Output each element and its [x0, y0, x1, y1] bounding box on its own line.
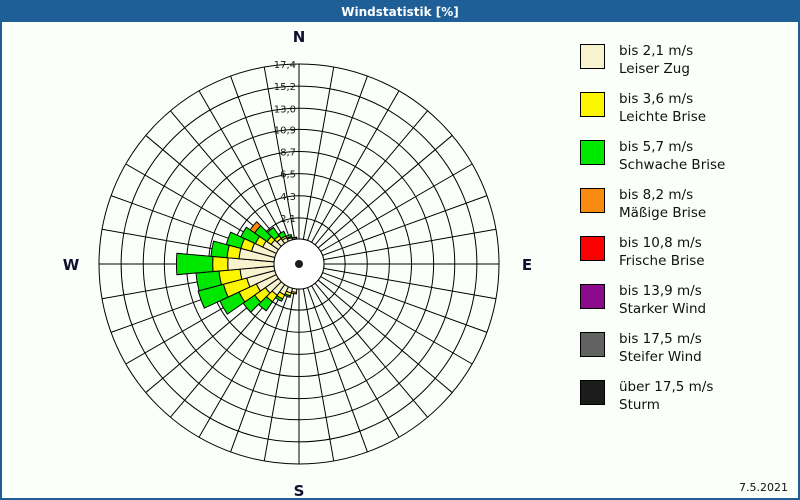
legend-label: über 17,5 m/sSturm [619, 378, 713, 415]
legend-speed-range: bis 3,6 m/s [619, 90, 706, 108]
radial-tick-label: 13,0 [274, 104, 296, 115]
window-title-bar: Windstatistik [%] [2, 2, 798, 22]
legend-item: über 17,5 m/sSturm [580, 378, 790, 421]
legend-label: bis 3,6 m/sLeichte Brise [619, 90, 706, 127]
legend-label: bis 5,7 m/sSchwache Brise [619, 138, 725, 175]
rose-tick-labels: 2,14,36,58,710,913,015,217,4 [274, 60, 299, 239]
legend-color-swatch [580, 188, 605, 213]
grid-spoke [264, 289, 294, 461]
legend-item: bis 13,9 m/sStarker Wind [580, 282, 790, 325]
grid-spoke [315, 111, 427, 245]
legend-label: bis 8,2 m/sMäßige Brise [619, 186, 706, 223]
legend-speed-range: bis 10,8 m/s [619, 234, 705, 252]
legend-beaufort-name: Sturm [619, 396, 713, 414]
windstatistik-window: Windstatistik [%] 2,14,36,58,710,913,015… [0, 0, 800, 500]
compass-label-n: N [293, 28, 306, 46]
grid-spoke [321, 277, 473, 365]
legend-speed-range: bis 8,2 m/s [619, 186, 706, 204]
grid-spoke [199, 286, 287, 438]
radial-tick-label: 6,5 [280, 170, 296, 181]
radial-tick-label: 15,2 [274, 82, 296, 93]
legend-speed-range: bis 2,1 m/s [619, 42, 693, 60]
legend-speed-range: über 17,5 m/s [619, 378, 713, 396]
legend-item: bis 5,7 m/sSchwache Brise [580, 138, 790, 181]
legend-beaufort-name: Starker Wind [619, 300, 706, 318]
rose-petal-segment [176, 253, 213, 274]
grid-spoke [312, 286, 400, 438]
grid-spoke [324, 229, 496, 259]
legend-beaufort-name: Mäßige Brise [619, 204, 706, 222]
legend-item: bis 2,1 m/sLeiser Zug [580, 42, 790, 85]
legend-speed-range: bis 5,7 m/s [619, 138, 725, 156]
grid-spoke [312, 91, 400, 243]
grid-spoke [318, 280, 452, 392]
compass-label-w: W [63, 256, 80, 274]
radial-tick-label: 2,1 [280, 214, 296, 225]
wind-rose-chart: 2,14,36,58,710,913,015,217,4 NESW [2, 22, 572, 500]
legend-color-swatch [580, 284, 605, 309]
radial-tick-label: 10,9 [274, 125, 296, 136]
legend-color-swatch [580, 236, 605, 261]
compass-label-s: S [294, 482, 305, 500]
legend-beaufort-name: Schwache Brise [619, 156, 725, 174]
grid-spoke [324, 268, 496, 298]
legend-speed-range: bis 17,5 m/s [619, 330, 702, 348]
rose-calm-marker [295, 260, 303, 268]
legend-item: bis 10,8 m/sFrische Brise [580, 234, 790, 277]
grid-spoke [303, 67, 333, 239]
legend-beaufort-name: Leiser Zug [619, 60, 693, 78]
legend-label: bis 17,5 m/sSteifer Wind [619, 330, 702, 367]
grid-spoke [308, 287, 368, 451]
grid-spoke [303, 289, 333, 461]
legend-color-swatch [580, 92, 605, 117]
legend-item: bis 17,5 m/sSteifer Wind [580, 330, 790, 373]
grid-spoke [170, 111, 282, 245]
window-title: Windstatistik [%] [341, 5, 458, 19]
compass-label-e: E [522, 256, 532, 274]
grid-spoke [318, 135, 452, 247]
grid-spoke [315, 283, 427, 417]
legend-beaufort-name: Steifer Wind [619, 348, 702, 366]
legend-color-swatch [580, 380, 605, 405]
grid-spoke [322, 196, 486, 256]
rose-petal-segment [213, 256, 228, 271]
grid-spoke [231, 287, 291, 451]
legend-speed-range: bis 13,9 m/s [619, 282, 706, 300]
wind-rose-svg: 2,14,36,58,710,913,015,217,4 NESW [2, 22, 572, 500]
rose-hub [274, 239, 324, 289]
legend: bis 2,1 m/sLeiser Zugbis 3,6 m/sLeichte … [580, 42, 790, 426]
grid-spoke [321, 164, 473, 252]
legend-item: bis 3,6 m/sLeichte Brise [580, 90, 790, 133]
legend-label: bis 10,8 m/sFrische Brise [619, 234, 705, 271]
legend-item: bis 8,2 m/sMäßige Brise [580, 186, 790, 229]
grid-spoke [322, 273, 486, 333]
legend-label: bis 2,1 m/sLeiser Zug [619, 42, 693, 79]
legend-color-swatch [580, 332, 605, 357]
date-stamp: 7.5.2021 [739, 481, 788, 494]
legend-beaufort-name: Frische Brise [619, 252, 705, 270]
legend-beaufort-name: Leichte Brise [619, 108, 706, 126]
radial-tick-label: 17,4 [274, 60, 296, 71]
legend-color-swatch [580, 44, 605, 69]
legend-label: bis 13,9 m/sStarker Wind [619, 282, 706, 319]
radial-tick-label: 4,3 [280, 192, 296, 203]
grid-spoke [308, 76, 368, 240]
legend-color-swatch [580, 140, 605, 165]
radial-tick-label: 8,7 [280, 148, 296, 159]
